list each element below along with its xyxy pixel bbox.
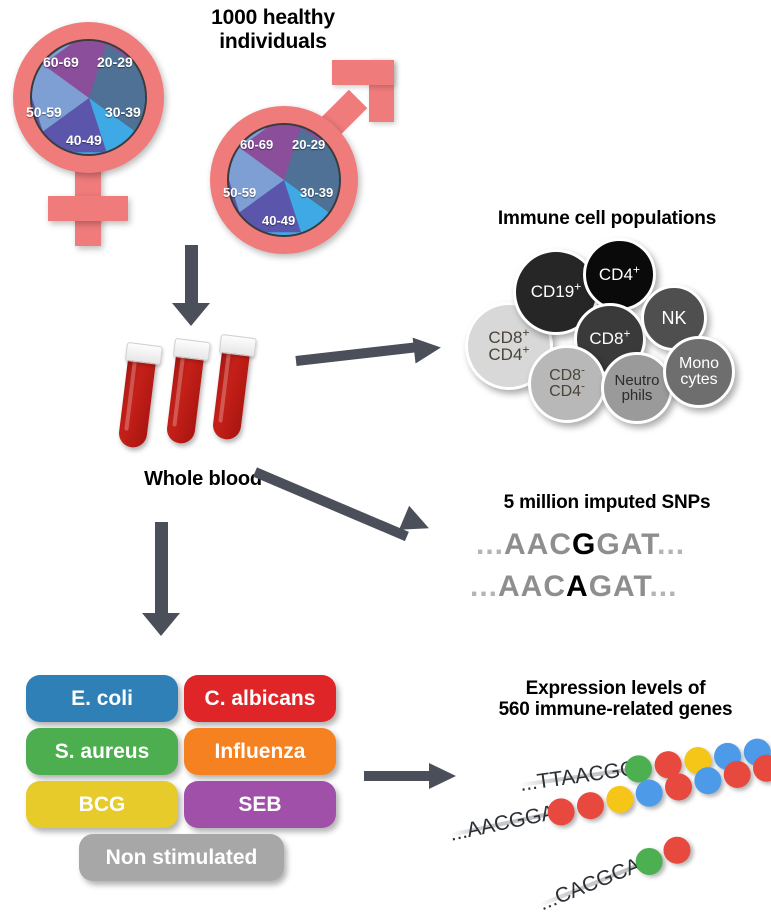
cell-label-line: CD4- [549, 384, 585, 400]
stimuli-group: E. coli C. albicans S. aureus Influenza … [26, 675, 346, 900]
snp-suffix: ... [657, 528, 685, 561]
snp-prefix: ... [476, 528, 504, 561]
tube-body [211, 346, 250, 441]
cell-label-line: Mono [679, 356, 719, 372]
immune-cells-cluster: CD8+ CD4+ CD19+ CD4+ CD8+ NK CD8- CD4- N… [455, 235, 765, 425]
snp-after: GAT [596, 528, 657, 561]
cell-bubble-neutrophils: Neutro phils [601, 352, 673, 424]
gene-bead [633, 777, 665, 809]
stimulus-pill-e-coli[interactable]: E. coli [26, 675, 178, 722]
pie-label-60-69: 60-69 [43, 54, 79, 70]
expression-heading-line1: Expression levels of [460, 678, 771, 699]
snp-after: GAT [589, 570, 650, 603]
male-pie-label-60-69: 60-69 [240, 137, 273, 152]
gene-bead [692, 765, 724, 797]
stimulus-pill-seb[interactable]: SEB [184, 781, 336, 828]
pie-label-40-49: 40-49 [66, 132, 102, 148]
blood-tube [210, 334, 252, 441]
stimulus-pill-s-aureus[interactable]: S. aureus [26, 728, 178, 775]
snp-before: AAC [504, 528, 572, 561]
arrow-shaft [155, 522, 168, 617]
female-stem-cross [48, 196, 128, 221]
cohort-heading-line2: individuals [178, 30, 368, 54]
snps-heading: 5 million imputed SNPs [443, 492, 771, 513]
cell-label-line: CD19+ [531, 283, 582, 300]
snp-sequences: ...AACGGAT... ...AACAGAT... [470, 528, 750, 618]
snp-variant: A [566, 570, 589, 603]
cell-label-line: CD8+ [589, 330, 630, 347]
arrow-shaft [364, 771, 432, 781]
snp-sequence-row: ...AACAGAT... [470, 570, 677, 604]
stimulus-pill-c-albicans[interactable]: C. albicans [184, 675, 336, 722]
cell-label-line: cytes [679, 372, 719, 388]
cell-label-line: CD4+ [488, 346, 529, 363]
gene-bead [659, 833, 694, 868]
male-pie-label-20-29: 20-29 [292, 137, 325, 152]
cohort-heading-line1: 1000 healthy [178, 6, 368, 30]
expression-heading: Expression levels of 560 immune-related … [460, 678, 771, 721]
arrow-shaft [295, 342, 419, 366]
arrow-shaft [185, 245, 198, 306]
gene-bead [574, 790, 606, 822]
snp-before: AAC [498, 570, 566, 603]
gene-bead [662, 771, 694, 803]
male-pie-label-40-49: 40-49 [262, 213, 295, 228]
cell-bubble-monocytes: Mono cytes [663, 336, 735, 408]
arrow-head-icon [413, 335, 443, 364]
arrow-blood-to-snps [255, 455, 455, 545]
stimulus-pill-influenza[interactable]: Influenza [184, 728, 336, 775]
cell-bubble-cd8n-cd4n: CD8- CD4- [528, 345, 606, 423]
arrow-head-icon [142, 613, 180, 636]
arrow-blood-to-immune-cells [296, 330, 456, 380]
tube-body [117, 354, 156, 449]
snp-sequence-row: ...AACGGAT... [476, 528, 685, 562]
pie-label-20-29: 20-29 [97, 54, 133, 70]
blood-tube [164, 338, 206, 445]
blood-tube [116, 342, 158, 449]
snp-suffix: ... [649, 570, 677, 603]
gene-bead [604, 783, 636, 815]
tube-body [165, 350, 204, 445]
cell-label-line: CD4+ [599, 266, 640, 283]
cell-label-line: NK [661, 309, 686, 327]
male-pie-label-50-59: 50-59 [223, 185, 256, 200]
gene-bead [751, 752, 771, 784]
expression-strands: ...TTAACGG ...AACGGAT ...CACGCAA [430, 740, 771, 920]
expression-heading-line2: 560 immune-related genes [460, 699, 771, 720]
male-pie-label-30-39: 30-39 [300, 185, 333, 200]
stimulus-pill-non-stimulated[interactable]: Non stimulated [79, 834, 284, 881]
cell-label-line: CD8- [549, 368, 585, 384]
immune-cells-heading: Immune cell populations [443, 208, 771, 229]
pie-label-30-39: 30-39 [105, 104, 141, 120]
arrow-head-icon [172, 303, 210, 326]
male-symbol: 20-29 30-39 40-49 50-59 60-69 [196, 58, 411, 258]
cell-label-line: Neutro [614, 373, 659, 388]
male-arrow-head-horizontal [332, 60, 394, 85]
stimulus-pill-bcg[interactable]: BCG [26, 781, 178, 828]
gene-bead [721, 758, 753, 790]
snp-variant: G [572, 528, 596, 561]
snp-prefix: ... [470, 570, 498, 603]
pie-label-50-59: 50-59 [26, 104, 62, 120]
cell-label-line: phils [614, 388, 659, 403]
arrow-shaft [253, 467, 409, 541]
female-symbol: 20-29 30-39 40-49 50-59 60-69 [0, 10, 190, 240]
cohort-heading: 1000 healthy individuals [178, 6, 368, 53]
